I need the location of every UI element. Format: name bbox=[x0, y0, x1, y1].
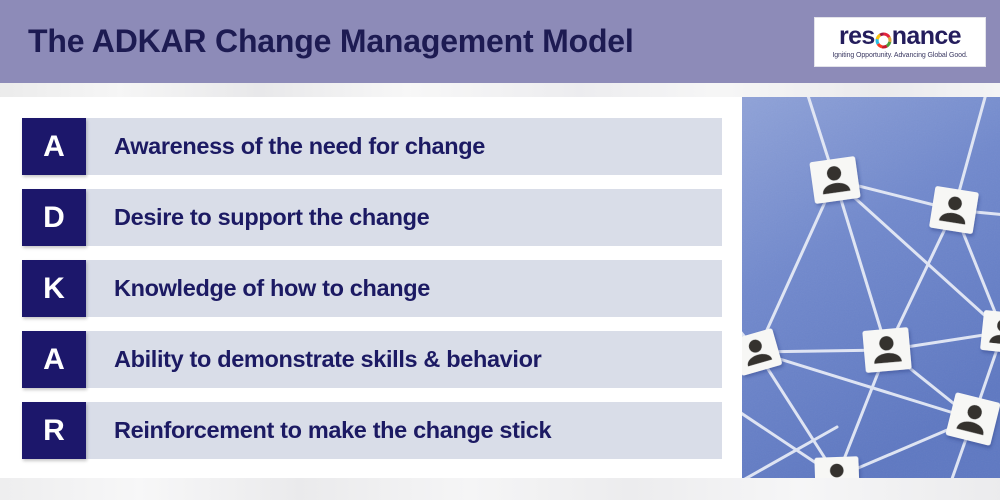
network-photo bbox=[742, 97, 1000, 478]
adkar-letter: R bbox=[43, 416, 65, 446]
network-graphic bbox=[742, 97, 1000, 478]
list-item: D Desire to support the change bbox=[22, 189, 722, 246]
adkar-letter: K bbox=[43, 274, 65, 304]
adkar-letter-badge: A bbox=[22, 118, 86, 175]
adkar-row-bar: Knowledge of how to change bbox=[86, 260, 722, 317]
adkar-letter: A bbox=[43, 132, 65, 162]
adkar-letter-badge: R bbox=[22, 402, 86, 459]
adkar-row-bar: Awareness of the need for change bbox=[86, 118, 722, 175]
logo-tagline: Igniting Opportunity. Advancing Global G… bbox=[832, 52, 967, 59]
adkar-row-text: Ability to demonstrate skills & behavior bbox=[114, 346, 541, 373]
logo-wordmark: res bbox=[839, 24, 961, 49]
page-title: The ADKAR Change Management Model bbox=[28, 23, 634, 60]
adkar-letter-badge: A bbox=[22, 331, 86, 388]
list-item: A Ability to demonstrate skills & behavi… bbox=[22, 331, 722, 388]
header-bar: The ADKAR Change Management Model res bbox=[0, 0, 1000, 83]
texture-band-top bbox=[0, 83, 1000, 97]
logo-name-part1: res bbox=[839, 24, 875, 49]
adkar-row-text: Knowledge of how to change bbox=[114, 275, 430, 302]
adkar-letter-badge: D bbox=[22, 189, 86, 246]
adkar-letter: D bbox=[43, 203, 65, 233]
texture-band-bottom bbox=[0, 478, 1000, 500]
adkar-row-bar: Ability to demonstrate skills & behavior bbox=[86, 331, 722, 388]
adkar-row-text: Awareness of the need for change bbox=[114, 133, 485, 160]
adkar-letter: A bbox=[43, 345, 65, 375]
adkar-letter-badge: K bbox=[22, 260, 86, 317]
logo-name-part2: nance bbox=[892, 24, 961, 49]
resonance-logo: res bbox=[814, 17, 986, 67]
adkar-row-text: Desire to support the change bbox=[114, 204, 429, 231]
sdg-wheel-icon bbox=[875, 29, 892, 46]
adkar-row-text: Reinforcement to make the change stick bbox=[114, 417, 551, 444]
list-item: R Reinforcement to make the change stick bbox=[22, 402, 722, 459]
list-item: K Knowledge of how to change bbox=[22, 260, 722, 317]
adkar-row-list: A Awareness of the need for change D Des… bbox=[22, 118, 722, 459]
infographic-poster: The ADKAR Change Management Model res bbox=[0, 0, 1000, 500]
list-item: A Awareness of the need for change bbox=[22, 118, 722, 175]
adkar-row-bar: Reinforcement to make the change stick bbox=[86, 402, 722, 459]
adkar-row-bar: Desire to support the change bbox=[86, 189, 722, 246]
